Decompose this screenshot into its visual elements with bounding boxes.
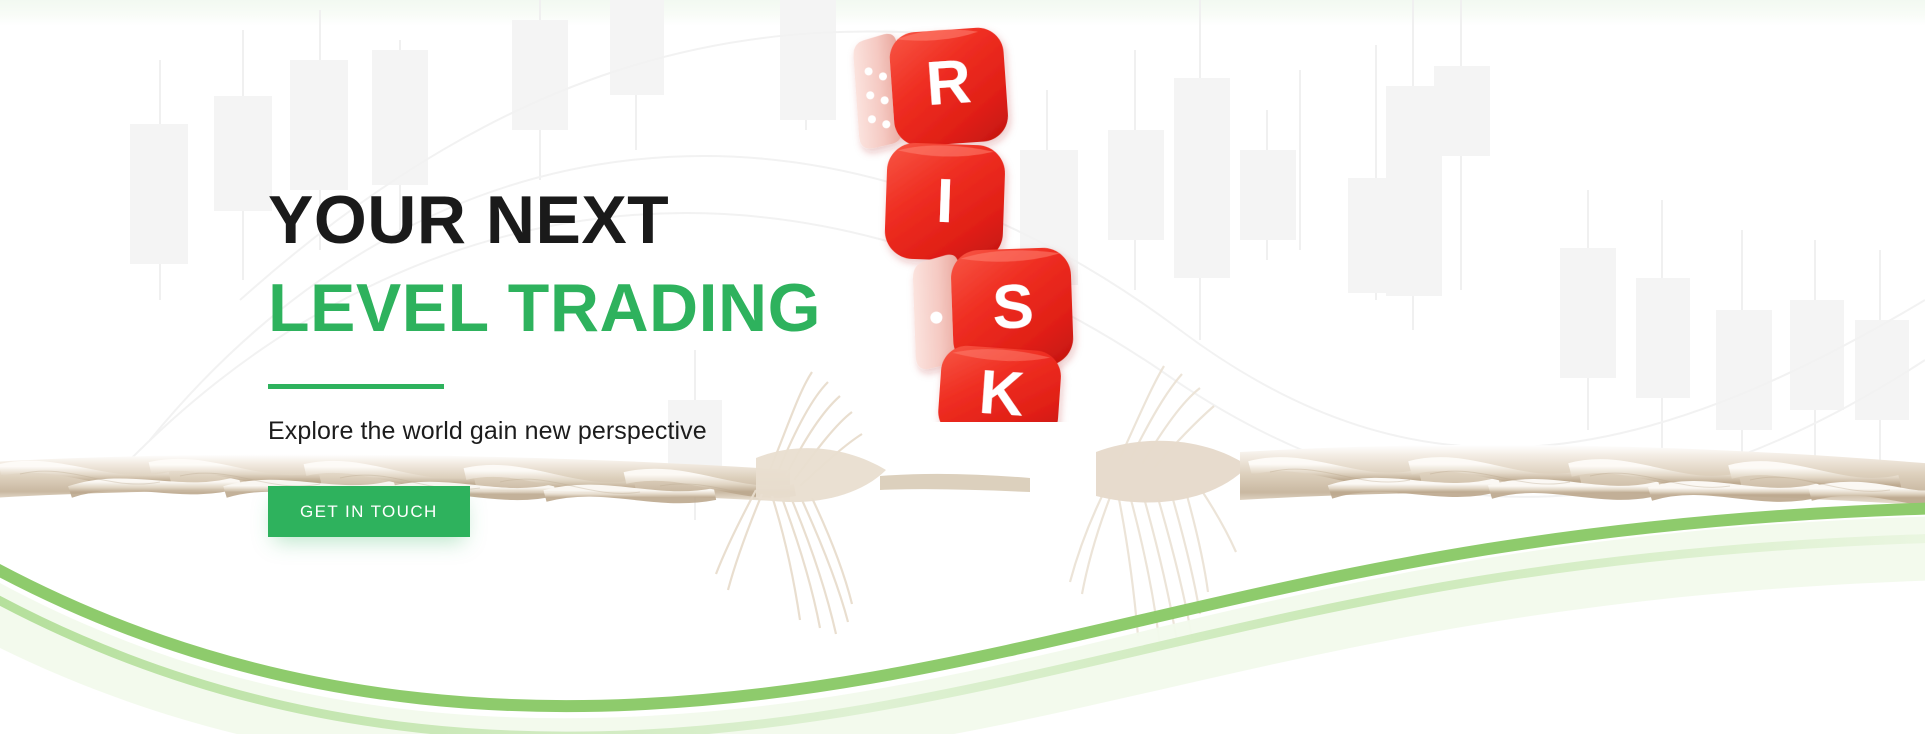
die-letter-r: R [924, 47, 973, 119]
headline-line-2: LEVEL TRADING [268, 274, 968, 342]
hero-subtitle: Explore the world gain new perspective [268, 417, 968, 446]
hero-banner: R I S K [0, 0, 1925, 734]
die-letter-k: K [977, 358, 1027, 422]
die-letter-s: S [991, 272, 1035, 342]
headline-line-1: YOUR NEXT [268, 186, 968, 254]
accent-divider [268, 384, 444, 389]
cta-wrapper: GET IN TOUCH [268, 486, 968, 537]
get-in-touch-button[interactable]: GET IN TOUCH [268, 486, 470, 537]
hero-content: YOUR NEXT LEVEL TRADING Explore the worl… [268, 186, 968, 537]
